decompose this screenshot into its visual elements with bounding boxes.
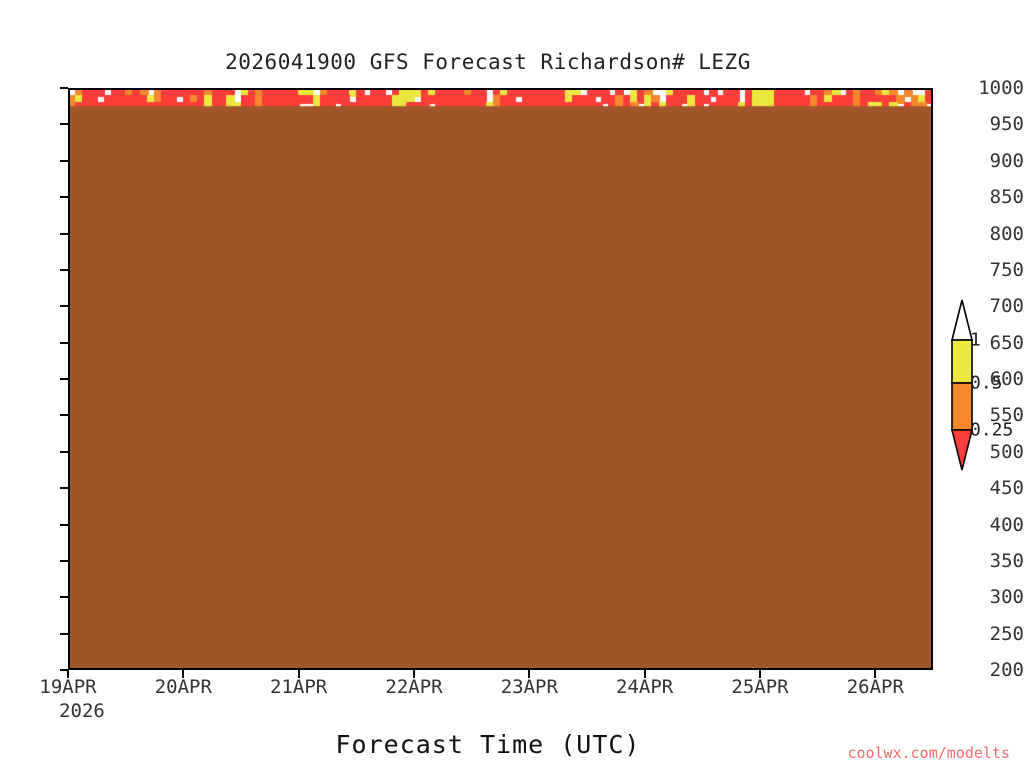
x-tick-year-label: 2026	[59, 700, 105, 722]
y-tick-label-250: 250	[966, 623, 1024, 645]
y-tick-mark-500	[60, 451, 68, 453]
y-tick-mark-900	[60, 160, 68, 162]
colorbar-over-arrow	[952, 300, 972, 340]
colorbar-band-0	[952, 340, 972, 383]
y-tick-mark-650	[60, 342, 68, 344]
chart-canvas-root: 2026041900 GFS Forecast Richardson# LEZG…	[0, 0, 1024, 768]
x-tick-label-20APR: 20APR	[155, 676, 212, 698]
y-tick-mark-850	[60, 196, 68, 198]
y-tick-mark-950	[60, 123, 68, 125]
richardson-number-heatmap	[68, 88, 933, 670]
colorbar-group: 1 0.5 0.25	[938, 296, 1024, 472]
x-tick-mark-4	[528, 670, 530, 678]
x-tick-mark-6	[759, 670, 761, 678]
y-tick-mark-750	[60, 269, 68, 271]
y-tick-label-400: 400	[966, 514, 1024, 536]
y-tick-label-1000: 1000	[966, 77, 1024, 99]
x-tick-label-22APR: 22APR	[385, 676, 442, 698]
y-tick-mark-350	[60, 560, 68, 562]
x-tick-label-23APR: 23APR	[501, 676, 558, 698]
chart-title: 2026041900 GFS Forecast Richardson# LEZG	[0, 50, 1000, 74]
colorbar-tick-0_5: 0.5	[970, 373, 1003, 394]
y-tick-mark-550	[60, 414, 68, 416]
y-tick-mark-450	[60, 487, 68, 489]
x-tick-mark-2	[298, 670, 300, 678]
y-tick-label-850: 850	[966, 186, 1024, 208]
x-tick-mark-1	[182, 670, 184, 678]
colorbar-tick-1: 1	[970, 330, 981, 351]
y-tick-mark-300	[60, 596, 68, 598]
y-tick-label-800: 800	[966, 223, 1024, 245]
x-tick-label-26APR: 26APR	[847, 676, 904, 698]
x-tick-mark-3	[413, 670, 415, 678]
y-tick-mark-250	[60, 633, 68, 635]
colorbar-tick-0_25: 0.25	[970, 420, 1013, 441]
y-tick-mark-600	[60, 378, 68, 380]
y-tick-mark-800	[60, 233, 68, 235]
y-tick-mark-700	[60, 305, 68, 307]
y-tick-label-350: 350	[966, 550, 1024, 572]
x-tick-mark-7	[874, 670, 876, 678]
x-tick-label-21APR: 21APR	[270, 676, 327, 698]
y-tick-mark-400	[60, 524, 68, 526]
y-tick-label-300: 300	[966, 586, 1024, 608]
y-tick-label-950: 950	[966, 113, 1024, 135]
y-tick-label-900: 900	[966, 150, 1024, 172]
colorbar-under-arrow	[952, 430, 972, 470]
y-tick-label-450: 450	[966, 477, 1024, 499]
y-tick-label-750: 750	[966, 259, 1024, 281]
colorbar-band-1	[952, 383, 972, 430]
y-tick-mark-1000	[60, 87, 68, 89]
x-tick-label-24APR: 24APR	[616, 676, 673, 698]
source-credit: coolwx.com/modelts	[847, 744, 1010, 762]
y-tick-label-200: 200	[966, 659, 1024, 681]
x-tick-mark-0	[67, 670, 69, 678]
x-tick-label-25APR: 25APR	[731, 676, 788, 698]
x-tick-mark-5	[644, 670, 646, 678]
x-tick-label-19APR: 19APR	[39, 676, 96, 698]
